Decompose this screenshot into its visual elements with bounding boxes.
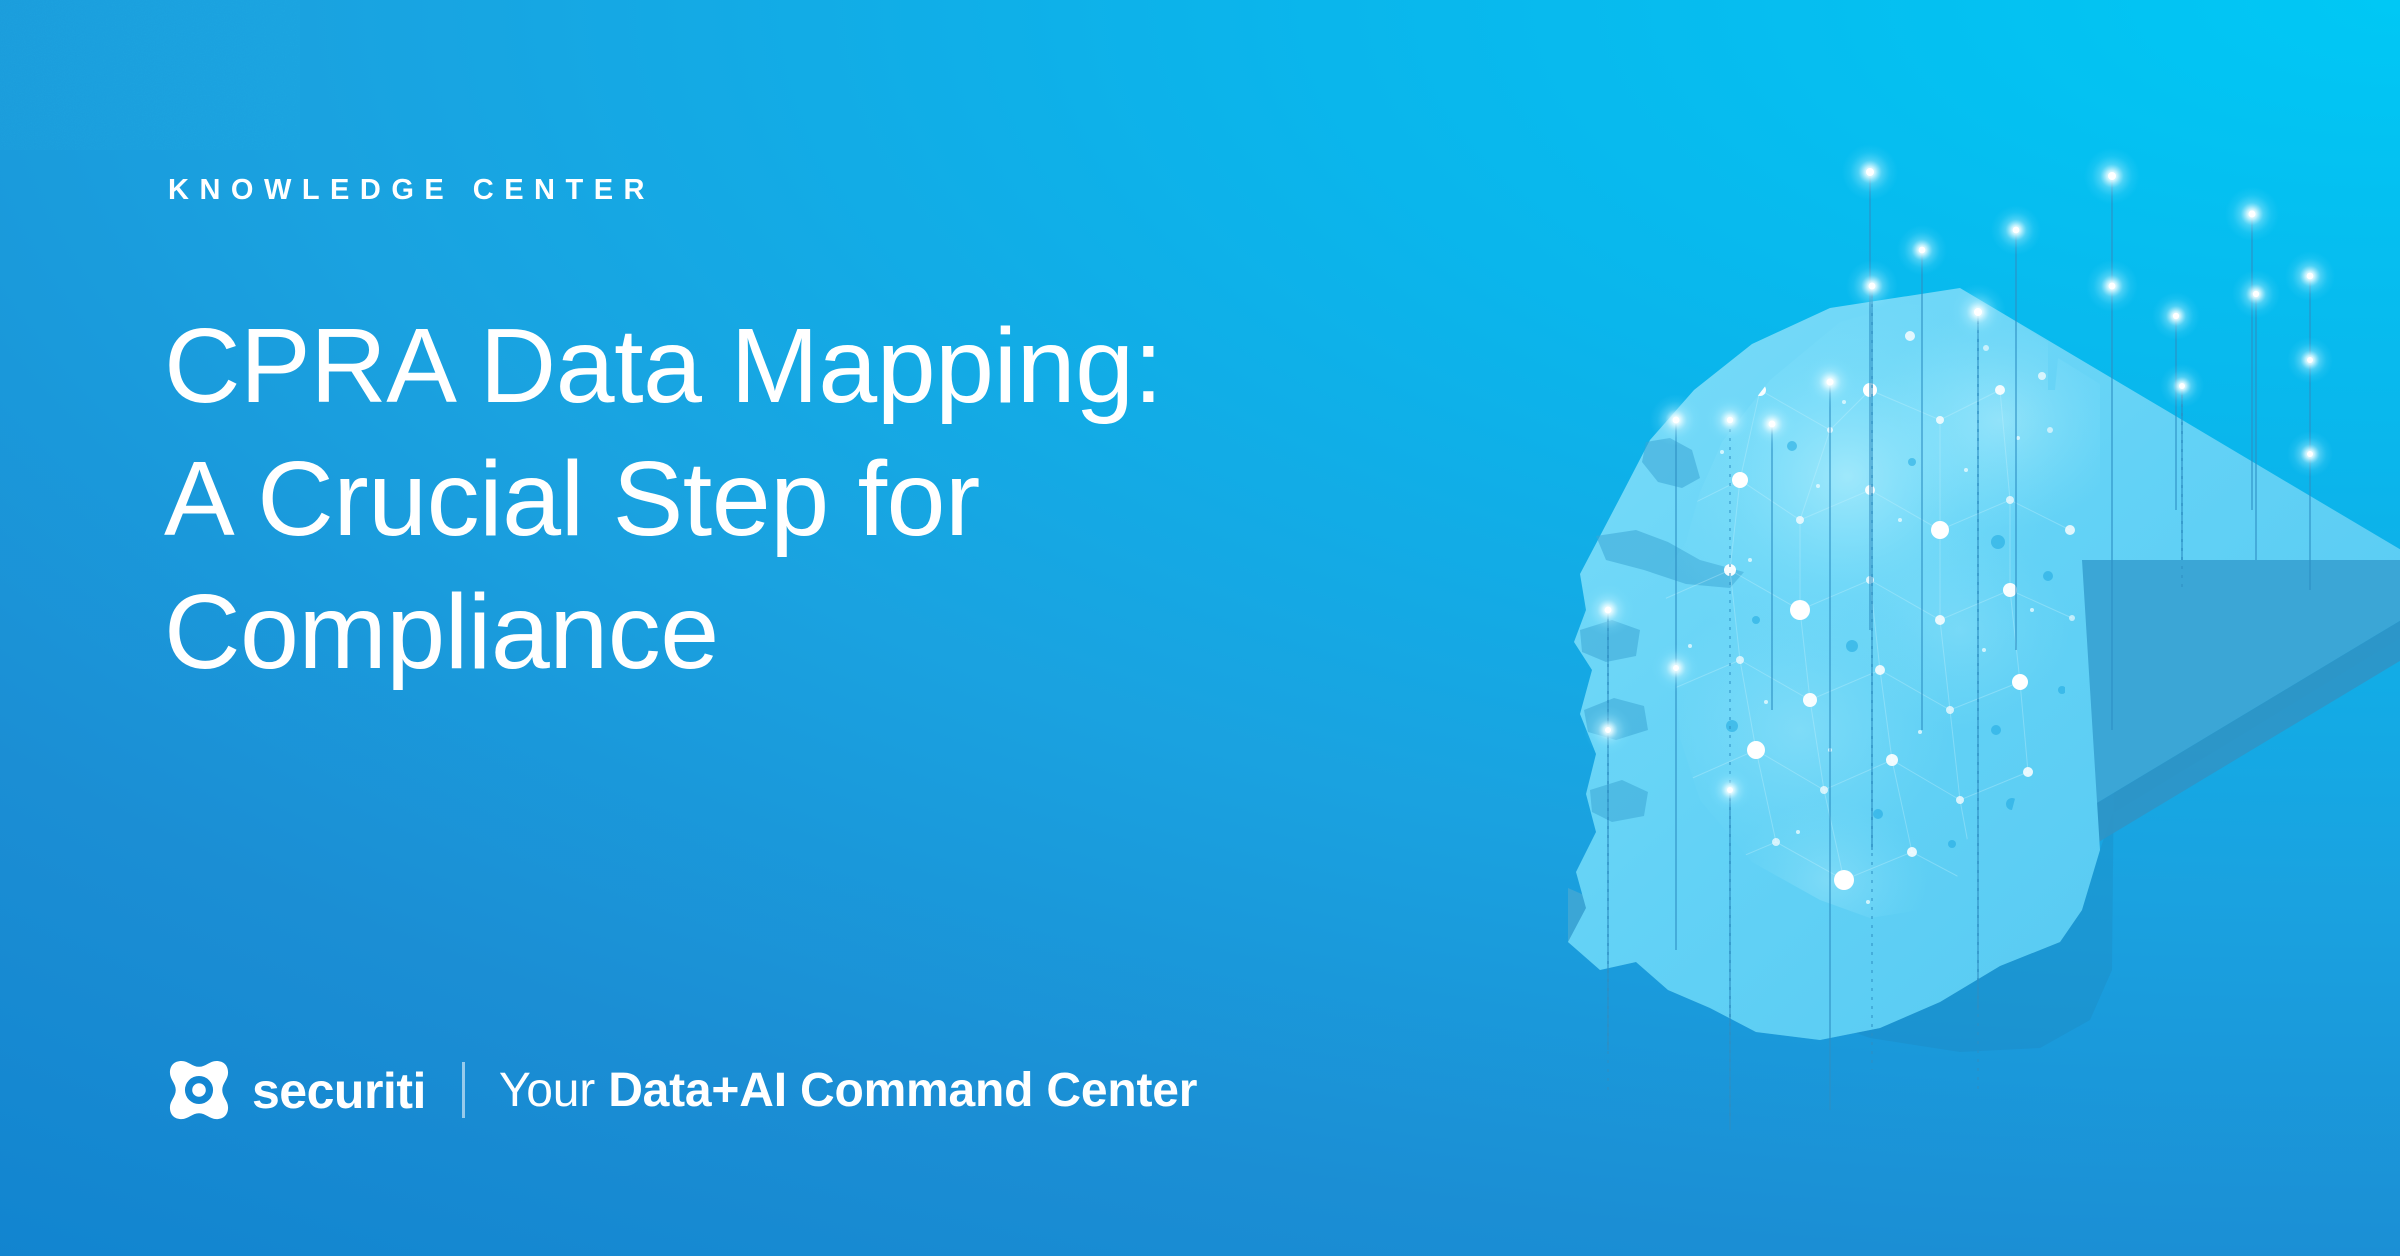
- page-title-line-2: A Crucial Step for: [164, 433, 1163, 566]
- eyebrow-label: KNOWLEDGE CENTER: [168, 176, 655, 205]
- page-title-line-1: CPRA Data Mapping:: [164, 300, 1163, 433]
- lockup-divider: [462, 1062, 465, 1118]
- page-title: CPRA Data Mapping: A Crucial Step for Co…: [164, 300, 1163, 699]
- securiti-logo-icon: [168, 1059, 230, 1121]
- isometric-head-data-network-illustration: [1400, 90, 2400, 1170]
- brand-tagline: Your Data+AI Command Center: [499, 1067, 1197, 1115]
- knowledge-center-banner: KNOWLEDGE CENTER CPRA Data Mapping: A Cr…: [0, 0, 2400, 1256]
- page-title-line-3: Compliance: [164, 566, 1163, 699]
- brand-wordmark: securiti: [252, 1066, 426, 1116]
- tagline-prefix: Your: [499, 1064, 608, 1117]
- tagline-emphasis: Data+AI Command Center: [608, 1064, 1197, 1117]
- brand-lockup[interactable]: securiti Your Data+AI Command Center: [168, 1058, 1197, 1122]
